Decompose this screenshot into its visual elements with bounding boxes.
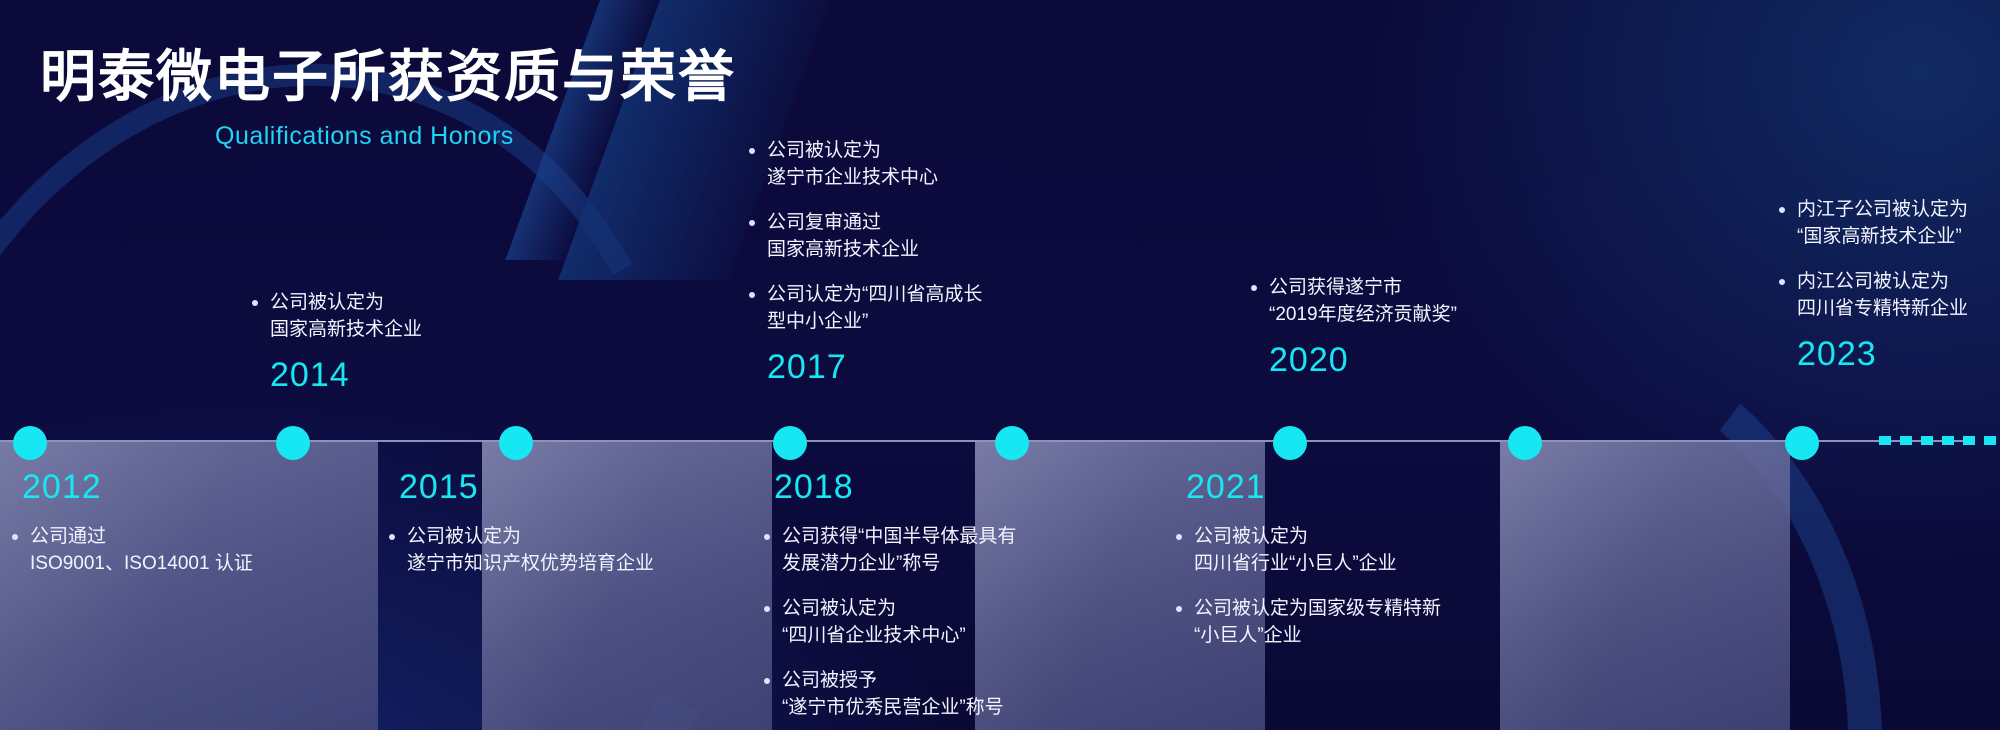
list-item: 公司被认定为 遂宁市知识产权优势培育企业 bbox=[385, 524, 685, 578]
timeline-node-2021[interactable] bbox=[1508, 426, 1542, 460]
year-label-2015: 2015 bbox=[399, 470, 685, 504]
timeline-node-2023[interactable] bbox=[1785, 426, 1819, 460]
bullet-list: 公司通过 ISO9001、ISO14001 认证 bbox=[8, 524, 408, 578]
bullet-list: 公司被认定为 国家高新技术企业 bbox=[248, 290, 578, 344]
list-item: 公司获得“中国半导体最具有 发展潜力企业”称号 bbox=[760, 524, 1060, 578]
bullet-list: 公司获得遂宁市 “2019年度经济贡献奖” bbox=[1247, 275, 1577, 329]
timeline-entry-2020: 公司获得遂宁市 “2019年度经济贡献奖”2020 bbox=[1247, 275, 1577, 377]
year-label-2021: 2021 bbox=[1186, 470, 1502, 504]
list-item: 公司被认定为 四川省行业“小巨人”企业 bbox=[1172, 524, 1502, 578]
year-label-2014: 2014 bbox=[270, 358, 578, 392]
timeline-end-dashes-icon bbox=[1879, 436, 1996, 445]
list-item: 公司被授予 “遂宁市优秀民营企业”称号 bbox=[760, 668, 1060, 722]
list-item: 公司通过 ISO9001、ISO14001 认证 bbox=[8, 524, 408, 578]
list-item: 公司认定为“四川省高成长 型中小企业” bbox=[745, 282, 1075, 336]
bullet-list: 内江子公司被认定为 “国家高新技术企业”内江公司被认定为 四川省专精特新企业 bbox=[1775, 197, 2000, 323]
list-item: 公司复审通过 国家高新技术企业 bbox=[745, 210, 1075, 264]
page-title: 明泰微电子所获资质与荣誉 bbox=[40, 32, 736, 113]
infographic-slide: 明泰微电子所获资质与荣誉 Qualifications and Honors 2… bbox=[0, 0, 2000, 730]
bullet-list: 公司被认定为 四川省行业“小巨人”企业公司被认定为国家级专精特新 “小巨人”企业 bbox=[1172, 524, 1502, 650]
timeline-entry-2012: 2012公司通过 ISO9001、ISO14001 认证 bbox=[8, 470, 408, 578]
timeline-entry-2023: 内江子公司被认定为 “国家高新技术企业”内江公司被认定为 四川省专精特新企业20… bbox=[1775, 197, 2000, 371]
year-label-2020: 2020 bbox=[1269, 343, 1577, 377]
timeline-node-2020[interactable] bbox=[1273, 426, 1307, 460]
timeline-node-2015[interactable] bbox=[499, 426, 533, 460]
year-label-2017: 2017 bbox=[767, 350, 1075, 384]
page-subtitle: Qualifications and Honors bbox=[215, 122, 514, 151]
timeline-node-2017[interactable] bbox=[773, 426, 807, 460]
list-item: 内江子公司被认定为 “国家高新技术企业” bbox=[1775, 197, 2000, 251]
timeline-entry-2021: 2021公司被认定为 四川省行业“小巨人”企业公司被认定为国家级专精特新 “小巨… bbox=[1172, 470, 1502, 650]
timeline-entry-2017: 公司被认定为 遂宁市企业技术中心公司复审通过 国家高新技术企业公司认定为“四川省… bbox=[745, 138, 1075, 384]
bullet-list: 公司被认定为 遂宁市知识产权优势培育企业 bbox=[385, 524, 685, 578]
year-label-2023: 2023 bbox=[1797, 337, 2000, 371]
timeline-node-2014[interactable] bbox=[276, 426, 310, 460]
timeline-entry-2015: 2015公司被认定为 遂宁市知识产权优势培育企业 bbox=[385, 470, 685, 578]
list-item: 内江公司被认定为 四川省专精特新企业 bbox=[1775, 269, 2000, 323]
year-label-2012: 2012 bbox=[22, 470, 408, 504]
timeline-node-2012[interactable] bbox=[13, 426, 47, 460]
list-item: 公司被认定为 “四川省企业技术中心” bbox=[760, 596, 1060, 650]
timeline-entry-2014: 公司被认定为 国家高新技术企业2014 bbox=[248, 290, 578, 392]
timeline-node-2018[interactable] bbox=[995, 426, 1029, 460]
year-label-2018: 2018 bbox=[774, 470, 1060, 504]
timeline-entry-2018: 2018公司获得“中国半导体最具有 发展潜力企业”称号公司被认定为 “四川省企业… bbox=[760, 470, 1060, 722]
list-item: 公司被认定为 遂宁市企业技术中心 bbox=[745, 138, 1075, 192]
bullet-list: 公司获得“中国半导体最具有 发展潜力企业”称号公司被认定为 “四川省企业技术中心… bbox=[760, 524, 1060, 722]
list-item: 公司被认定为 国家高新技术企业 bbox=[248, 290, 578, 344]
bullet-list: 公司被认定为 遂宁市企业技术中心公司复审通过 国家高新技术企业公司认定为“四川省… bbox=[745, 138, 1075, 336]
list-item: 公司被认定为国家级专精特新 “小巨人”企业 bbox=[1172, 596, 1502, 650]
list-item: 公司获得遂宁市 “2019年度经济贡献奖” bbox=[1247, 275, 1577, 329]
timeline-panel bbox=[1500, 441, 1790, 730]
